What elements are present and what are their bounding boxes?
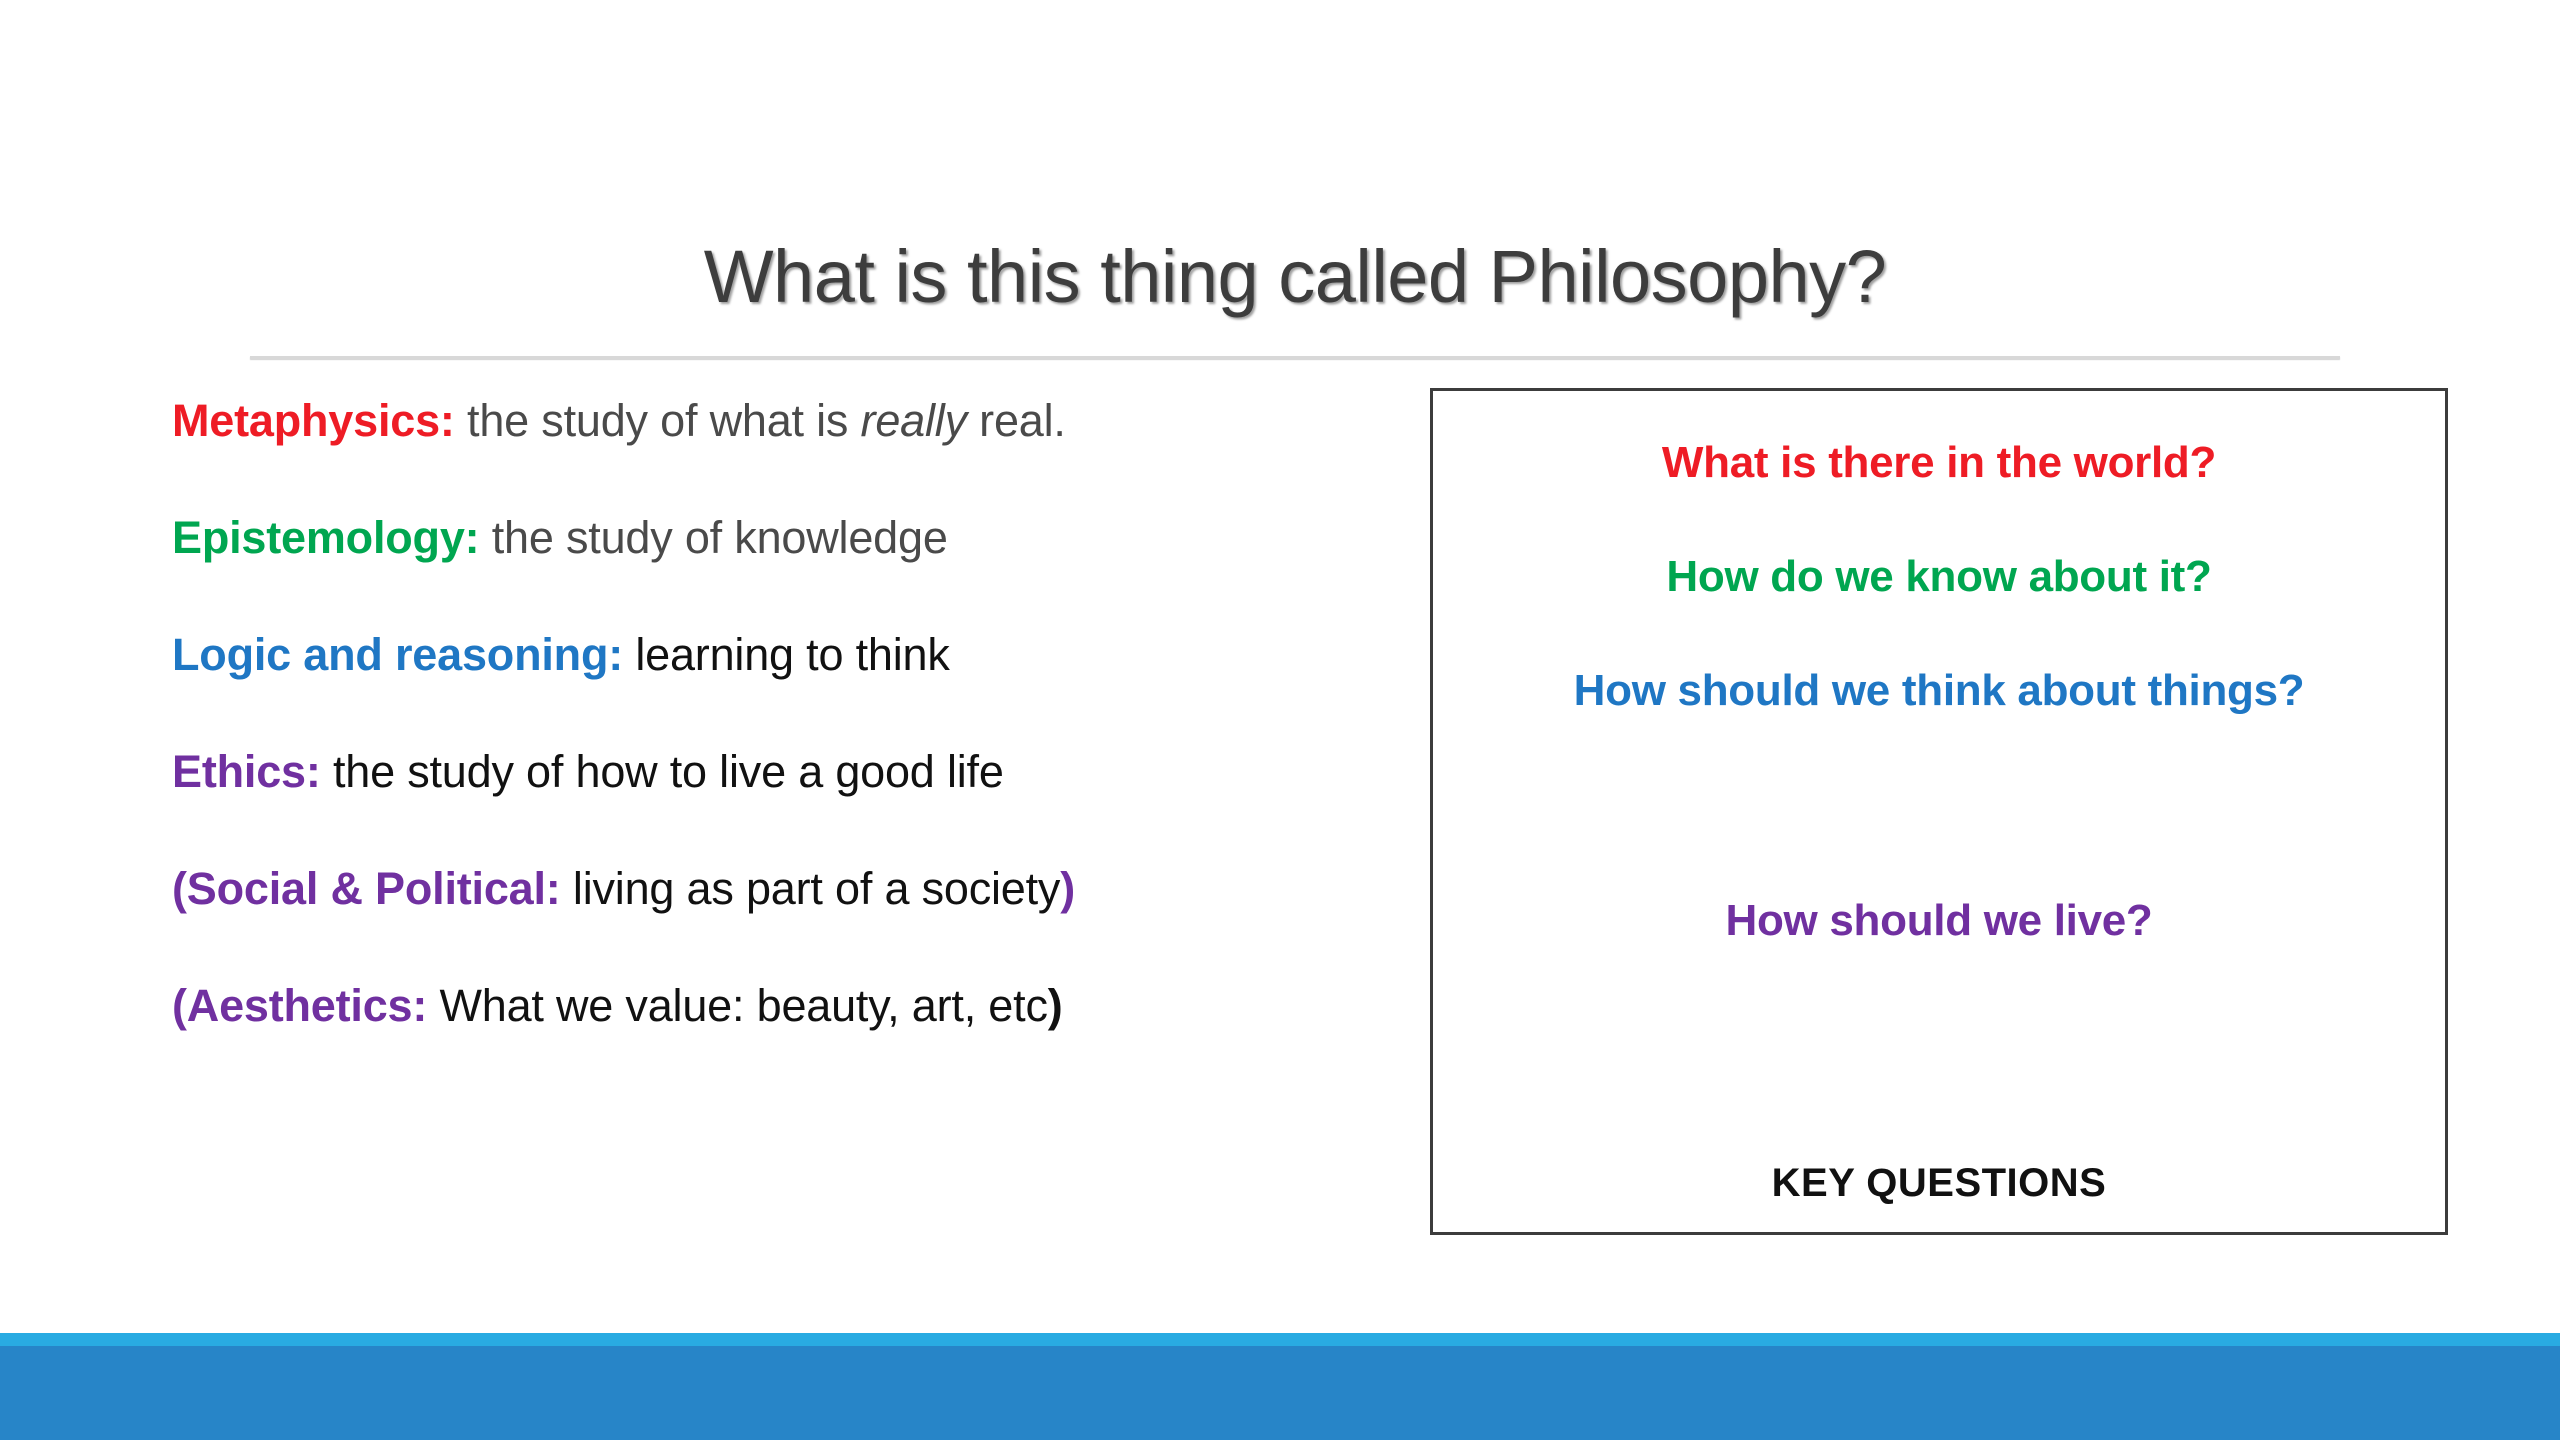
key-question-2: How do we know about it?	[1433, 555, 2445, 599]
page-title: What is this thing called Philosophy?	[250, 236, 2340, 319]
list-item: Metaphysics: the study of what is really…	[172, 398, 1402, 443]
branch-description-tail: real.	[967, 395, 1066, 446]
list-item: Logic and reasoning: learning to think	[172, 632, 1402, 677]
branch-description: living as part of a society	[561, 863, 1061, 914]
branch-description: learning to think	[623, 629, 950, 680]
branch-description: the study of what is	[455, 395, 861, 446]
branch-colon: :	[440, 395, 455, 446]
list-item: Epistemology: the study of knowledge	[172, 515, 1402, 560]
list-item: Ethics: the study of how to live a good …	[172, 749, 1402, 794]
title-divider	[250, 356, 2340, 359]
branch-term: (Social & Political:	[172, 863, 561, 914]
branch-term: Logic and reasoning	[172, 629, 608, 680]
branch-term: Ethics:	[172, 746, 321, 797]
branch-description-emphasis: really	[861, 395, 967, 446]
branch-colon: :	[608, 629, 623, 680]
slide-canvas: What is this thing called Philosophy? Me…	[0, 0, 2560, 1440]
branch-description: What we value: beauty, art, etc	[427, 980, 1048, 1031]
key-question-4: How should we live?	[1433, 899, 2445, 943]
key-questions-content: What is there in the world? How do we kn…	[1433, 391, 2445, 1232]
branch-term: Epistemology:	[172, 512, 479, 563]
branch-close-paren: )	[1048, 980, 1063, 1031]
branches-list: Metaphysics: the study of what is really…	[172, 398, 1402, 1028]
title-block: What is this thing called Philosophy?	[250, 236, 2340, 319]
key-question-1: What is there in the world?	[1433, 441, 2445, 485]
list-item: (Aesthetics: What we value: beauty, art,…	[172, 983, 1402, 1028]
key-question-3: How should we think about things?	[1433, 669, 2445, 713]
list-item: (Social & Political: living as part of a…	[172, 866, 1402, 911]
branch-close-paren: )	[1060, 863, 1075, 914]
key-questions-box: What is there in the world? How do we kn…	[1430, 388, 2448, 1235]
footer-accent-strip	[0, 1333, 2560, 1346]
footer-band	[0, 1346, 2560, 1440]
branch-term: Metaphysics	[172, 395, 440, 446]
branch-term: (Aesthetics:	[172, 980, 427, 1031]
branch-description: the study of how to live a good life	[321, 746, 1004, 797]
key-questions-label: KEY QUESTIONS	[1433, 1161, 2445, 1206]
branch-description: the study of knowledge	[479, 512, 947, 563]
